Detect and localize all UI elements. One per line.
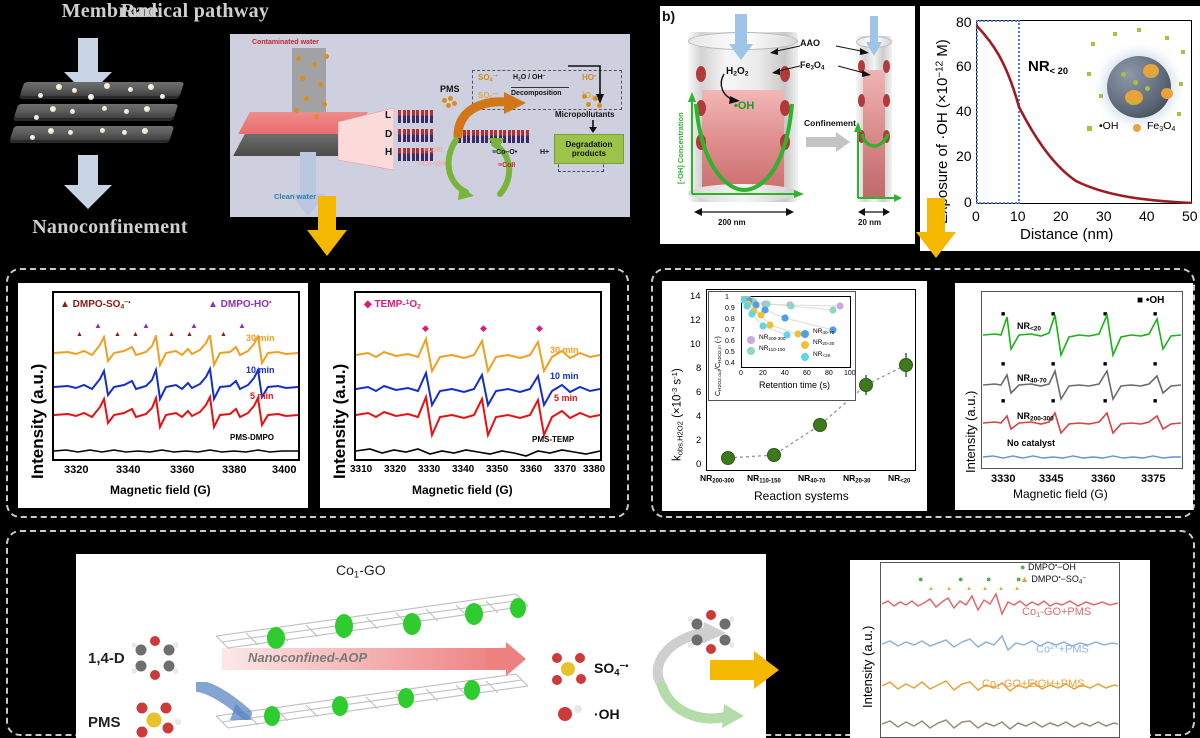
kobs-inset-xtick-80: 80 [825,370,833,377]
epr-co1go-ylabel: Intensity (a.u.) [860,626,875,708]
panel-c-corner-label: b) [662,8,675,24]
epr-nr-legend-oh: ■ •OH [1137,295,1164,306]
molecule-oh-radical [554,702,588,726]
kobs-ytick-12: 12 [690,315,701,326]
label-1-4-d: 1,4-D [88,650,125,667]
epr-temp-trace-30min: 30 min [550,345,579,355]
kobs-inset-xtick-40: 40 [781,370,789,377]
epr-nr-xtick-3360: 3360 [1091,473,1115,485]
label-oh-concentration-axis: [·OH] Concentration [676,112,685,184]
epr-dmpo-xtick-3360: 3360 [170,464,194,476]
epr-co1go-markers-circles: ● ● ● ● [880,574,1120,584]
ldh-letter-h: H [385,147,392,158]
decomp-so4-radical: SO4−• [478,73,498,83]
epr-nr-trace-200300: NR200-300 [1017,411,1054,423]
epr-dmpo-xlabel: Magnetic field (G) [110,483,211,497]
kobs-inset-xtick-100: 100 [844,370,856,377]
kobs-xcat-4: NR<20 [888,473,910,484]
label-dim-narrow: 20 nm [858,218,881,227]
epr-temp-xlabel: Magnetic field (G) [412,483,513,497]
epr-temp-xtick-3310: 3310 [350,464,372,475]
epr-nr-xtick-3375: 3375 [1141,473,1165,485]
inlet-arrow-wide [728,14,754,62]
kobs-inset-ytick-0.9: 0.9 [725,305,735,312]
kobs-xcat-2: NR40-70 [798,473,825,484]
label-micropollutants: Micropollutants [555,110,615,119]
ldh-layer-2 [398,129,433,142]
epr-dmpo-xtick-3320: 3320 [64,464,88,476]
epr-dmpo-legend-so4: ▲ DMPO-SO4−• [60,299,131,311]
panel-membrane: Membrane [0,0,220,250]
epr-temp-xtick-3340: 3340 [452,464,474,475]
epr-nr-xtick-3345: 3345 [1039,473,1063,485]
kobs-inset: CH2O2,out/CH2O2,in (-) 1 0.9 0.8 0.7 0.6… [708,291,856,401]
epr-dmpo-trace-10min: 10 min [246,365,275,375]
cycle-label-co2: ≡CoII [498,162,515,169]
epr-dmpo-ylabel: Intensity (a.u.) [28,364,48,479]
epr-co1go-legend-oh: ● DMPO•−OH [1020,562,1076,572]
molecule-product [688,610,734,654]
epr-co1go-trace-3: Co1-GO+EtOH+PMS [982,678,1085,691]
exposure-xtick-40: 40 [1139,208,1155,224]
kobs-inset-ylabel: CH2O2,out/CH2O2,in (-) [715,336,723,396]
exposure-xtick-30: 30 [1096,208,1112,224]
epr-co1go-trace-1: Co1-GO+PMS [1022,606,1091,619]
epr-dmpo-trace-pms: PMS-DMPO [230,433,274,442]
epr-temp-trace-10min: 10 min [550,371,579,381]
epr-dmpo-legend-ho: ▲ DMPO-HO• [208,299,271,310]
epr-nr-ylabel: Intensity (a.u.) [963,391,978,473]
kobs-inset-ytick-0.7: 0.7 [725,327,735,334]
epr-nr-trace-lt20: NR<20 [1017,321,1041,333]
panel-a-title-top: Membrane [0,0,220,23]
epr-nr-xtick-3330: 3330 [991,473,1015,485]
exposure-xtick-20: 20 [1053,208,1069,224]
exposure-xtick-10: 10 [1010,208,1026,224]
label-confinement: Confinement [804,118,856,128]
label-proton: H+ [540,149,549,156]
epr-temp-xtick-3380: 3380 [583,464,605,475]
inset-legend-nrlt20: NR<20 [813,351,830,358]
kobs-xcat-0: NR200-300 [700,473,734,484]
dimension-wide [694,206,794,218]
down-arrow-bottom [62,155,114,211]
epr-dmpo-markers-ho: ▲ ▲ ▲ ▲ [52,321,300,331]
exposure-inset-illustration: •OH Fe3O4 [1085,28,1189,148]
kobs-ylabel: kobs,H2O2 (×10-3 s-1) [670,368,684,461]
decomp-divider [511,87,569,88]
exposure-legend-fe3o4: Fe3O4 [1147,120,1175,133]
cycle-label-co3: ≡CoIII [423,147,442,154]
inset-legend-nr110150: NR110-150 [759,345,785,352]
panel-a-title-bottom: Nanoconfinement [0,216,220,239]
panel-radical-pathway: Contaminated water Clean water L [230,34,630,217]
exposure-ytick-0: 0 [964,194,972,210]
label-so4-radical: SO4−• [594,660,628,678]
kobs-ytick-2: 2 [696,435,701,446]
epr-dmpo-trace-5min: 5 min [250,391,274,401]
decomp-reagent: H2O / OH− [513,74,545,82]
panel-kobs-chart: kobs,H2O2 (×10-3 s-1) 14 12 10 8 6 4 2 0… [662,281,927,511]
kobs-inset-ytick-0.4: 0.4 [725,360,735,367]
epr-temp-trace-pms: PMS-TEMP [532,435,574,444]
aao-callout-lines [756,40,886,84]
inset-legend-nr2030: NR20-30 [813,339,834,346]
kobs-inset-xtick-0: 0 [739,370,743,377]
kobs-xcat-3: NR20-30 [843,473,870,484]
kobs-inset-xtick-20: 20 [759,370,767,377]
kobs-ytick-10: 10 [690,339,701,350]
label-pms-bottom: PMS [88,714,121,731]
kobs-inset-ytick-0.5: 0.5 [725,349,735,356]
epr-nr-xlabel: Magnetic field (G) [1013,487,1108,501]
epr-temp-trace-5min: 5 min [554,393,578,403]
epr-temp-xtick-3350: 3350 [486,464,508,475]
kobs-ytick-6: 6 [696,387,701,398]
epr-temp-xtick-3320: 3320 [384,464,406,475]
graphene-sheet-bottom [216,672,546,734]
pms-inflow-arrow [196,682,252,722]
confinement-arrow [806,132,850,152]
kobs-inset-ytick-0.6: 0.6 [725,338,735,345]
orange-curved-arrow [452,92,552,138]
epr-temp-legend: ◆ TEMP-1O2 [364,299,421,311]
co1go-title: Co1-GO [336,562,386,580]
nanoconfined-aop-label: Nanoconfined-AOP [248,650,367,665]
cycle-label-co-o: ≡Co–O• [492,149,517,156]
label-contaminated-water: Contaminated water [252,39,319,46]
ldh-letter-d: D [385,129,392,140]
inset-legend-nr4070: NR40-70 [813,328,834,335]
epr-dmpo-xtick-3340: 3340 [116,464,140,476]
exposure-legend-oh: •OH [1099,120,1118,132]
panel-epr-temp: Intensity (a.u.) ◆ TEMP-1O2 ◆ ◆ ◆ 30 min… [320,283,610,508]
membrane-stack [0,82,220,162]
epr-dmpo-xtick-3400: 3400 [272,464,296,476]
cycle-label-co-oh: ≡Co–OH [418,161,446,168]
kobs-inset-xlabel: Retention time (s) [759,380,830,390]
epr-temp-xtick-3360: 3360 [520,464,542,475]
epr-temp-markers: ◆ ◆ ◆ [354,323,602,333]
panel-exposure-chart: Exposure of ·OH (×10−12 M) NR< 20 [920,6,1200,251]
label-oh-radical-bottom: ·OH [594,706,620,722]
epr-temp-xtick-3370: 3370 [554,464,576,475]
epr-dmpo-xtick-3380: 3380 [222,464,246,476]
epr-temp-xtick-3330: 3330 [418,464,440,475]
panel-epr-co1go: Intensity (a.u.) ● DMPO•−OH ▲ DMPO•−SO4−… [850,560,1150,738]
exposure-xtick-0: 0 [972,208,980,224]
molecule-so4-radical [548,650,594,688]
ldh-layer-1 [398,110,433,123]
exposure-ytick-60: 60 [956,58,972,74]
green-redox-cycle [442,136,522,202]
degradation-arrow [586,120,600,134]
exposure-ylabel: Exposure of ·OH (×10−12 M) [934,39,951,224]
molecule-pms [132,700,182,738]
epr-co1go-trace-2: Co2++PMS [1036,642,1089,655]
exposure-xlabel: Distance (nm) [1020,226,1113,243]
kobs-inset-ytick-0.8: 0.8 [725,316,735,323]
exposure-ytick-80: 80 [956,14,972,30]
nanoconfined-aop-arrowhead [486,642,526,676]
epr-temp-ylabel: Intensity (a.u.) [330,364,350,479]
micropollutant-dots [582,94,608,108]
kobs-inset-ytick-1.0: 1 [725,294,729,301]
epr-dmpo-trace-30min: 30 min [246,333,275,343]
label-dim-wide: 200 nm [718,218,746,227]
yellow-arrow-right-bottom [710,650,780,690]
degradation-products-box: Degradation products [554,134,624,164]
panel-epr-nr-oh: Intensity (a.u.) ■ •OH ■ ■ ■ ■ ■ ■ ■ ■ ■… [955,283,1193,510]
kobs-xlabel: Reaction systems [754,489,849,503]
kobs-xcat-1: NR110-150 [747,473,781,484]
yellow-arrow-down-right [915,198,957,260]
kobs-inset-legend: NR200-300 NR110-150 NR40-70 NR20-30 NR<2… [747,336,851,368]
panel-co1go-scheme: Co1-GO Na [76,554,766,738]
panel-epr-dmpo: Intensity (a.u.) ▲ DMPO-SO4−• ▲ DMPO-HO•… [18,283,308,508]
epr-nr-trace-nocat: No catalyst [1007,438,1055,448]
exposure-ytick-40: 40 [956,103,972,119]
exposure-ytick-20: 20 [956,148,972,164]
h2o2-to-oh-arrow [718,72,752,106]
dimension-narrow [858,206,890,218]
graphical-abstract-root: Membrane [0,0,1200,738]
kobs-ytick-14: 14 [690,291,701,302]
epr-nr-trace-4070: NR40-70 [1017,373,1047,385]
panel-aao-confinement: b) H2O2 [660,6,915,244]
kobs-ytick-4: 4 [696,411,701,422]
molecule-1-4-d [132,636,178,680]
exposure-xtick-50: 50 [1182,208,1198,224]
kobs-ytick-0: 0 [696,459,701,470]
ldh-letter-l: L [385,110,391,121]
exposure-annotation: NR< 20 [1028,58,1068,76]
yellow-arrow-down-left [306,196,348,258]
contaminant-dots [290,52,340,120]
kobs-ytick-8: 8 [696,363,701,374]
kobs-inset-xtick-60: 60 [803,370,811,377]
inset-legend-nr200300: NR200-300 [759,334,785,341]
